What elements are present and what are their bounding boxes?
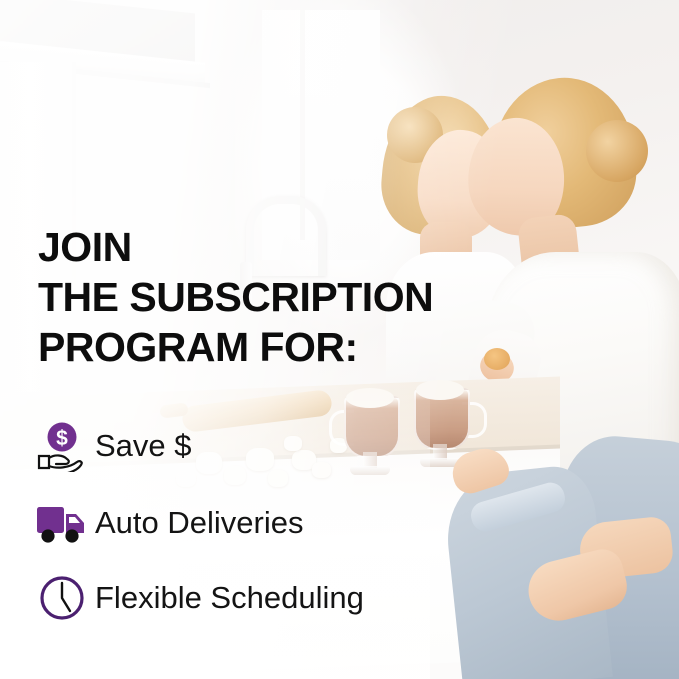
list-item-label: Flexible Scheduling bbox=[95, 580, 364, 616]
hand-holding-coin-icon: $ bbox=[34, 419, 90, 473]
subscription-program-ad: JOIN THE SUBSCRIPTION PROGRAM FOR: $ Sav… bbox=[0, 0, 679, 679]
ad-content: JOIN THE SUBSCRIPTION PROGRAM FOR: $ Sav… bbox=[0, 0, 679, 679]
list-item: Auto Deliveries bbox=[34, 491, 474, 554]
list-item-label: Auto Deliveries bbox=[95, 505, 303, 541]
headline-line-3: PROGRAM FOR: bbox=[38, 322, 638, 372]
headline-line-2: THE SUBSCRIPTION bbox=[38, 272, 638, 322]
delivery-truck-icon bbox=[34, 496, 90, 550]
svg-text:$: $ bbox=[56, 427, 68, 450]
list-item: $ Save $ bbox=[34, 414, 474, 477]
clock-icon bbox=[34, 571, 90, 625]
page-title: JOIN THE SUBSCRIPTION PROGRAM FOR: bbox=[38, 222, 638, 372]
list-item: Flexible Scheduling bbox=[34, 566, 474, 629]
headline-line-1: JOIN bbox=[38, 222, 638, 272]
list-item-label: Save $ bbox=[95, 428, 192, 464]
benefits-list: $ Save $ bbox=[34, 414, 474, 603]
